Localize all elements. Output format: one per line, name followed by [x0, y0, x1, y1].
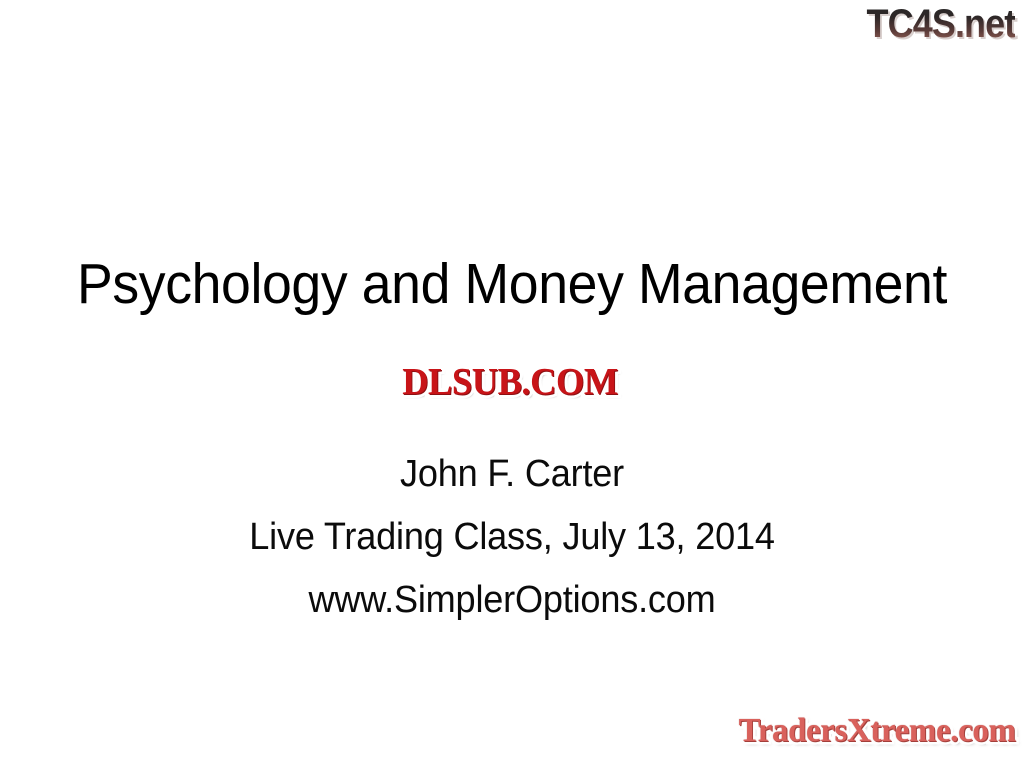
tradersxtreme-logo: TradersXtreme.com TradersXtreme.com	[678, 712, 1016, 752]
tc4s-logo-text: TC4S.net	[866, 2, 1015, 46]
dlsub-watermark: DLSUB.COM DLSUB.COM	[368, 362, 652, 404]
subtitle-block: John F. Carter Live Trading Class, July …	[0, 443, 1024, 632]
subtitle-line-presenter: John F. Carter	[26, 443, 999, 506]
title-block: Psychology and Money Management	[0, 247, 1024, 321]
subtitle-line-event: Live Trading Class, July 13, 2014	[26, 506, 999, 569]
tc4s-logo: TC4S.net TC4S.net	[866, 2, 1015, 46]
page-title: Psychology and Money Management	[31, 247, 994, 321]
subtitle-line-website: www.SimplerOptions.com	[26, 569, 999, 632]
dlsub-watermark-outline: DLSUB.COM	[374, 362, 647, 402]
dlsub-watermark-text: DLSUB.COM	[374, 362, 647, 402]
presentation-slide: TC4S.net TC4S.net Psychology and Money M…	[0, 0, 1024, 768]
tradersxtreme-logo-text: TradersXtreme.com	[739, 712, 1016, 750]
